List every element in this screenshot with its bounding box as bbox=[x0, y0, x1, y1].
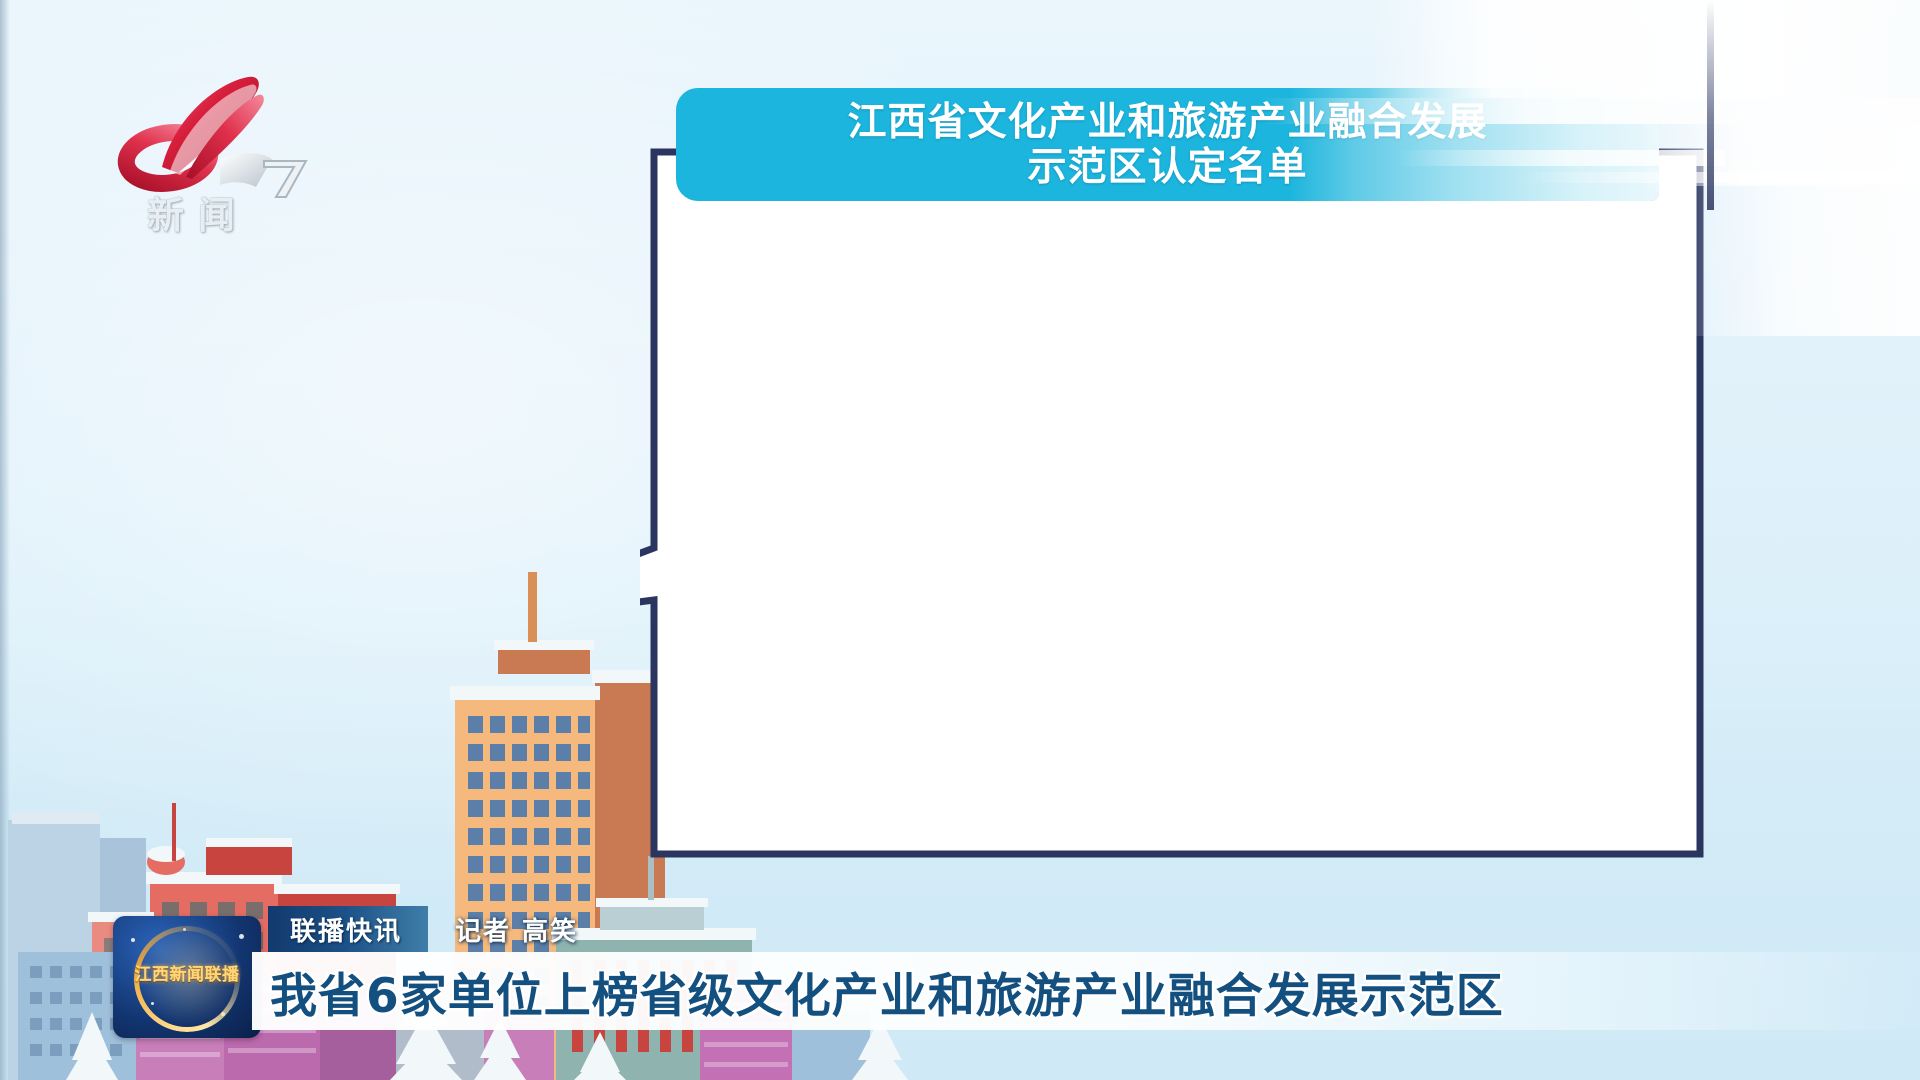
graphic-title-bar: 江西省文化产业和旅游产业融合发展 示范区认定名单 bbox=[676, 88, 1659, 201]
badge-star bbox=[131, 938, 135, 942]
light-streak bbox=[1680, 186, 1920, 336]
headline-band: 我省6家单位上榜省级文化产业和旅游产业融合发展示范区 bbox=[252, 952, 1920, 1030]
flash-news-tag-label: 联播快讯 bbox=[290, 911, 402, 948]
reporter-credit: 记者 高笑 bbox=[455, 906, 578, 952]
reporter-credit-label: 记者 高笑 bbox=[455, 911, 578, 948]
light-streak bbox=[1370, 0, 1920, 98]
flash-news-tag: 联播快讯 bbox=[268, 906, 428, 952]
broadcast-frame: 江西省文化产业和旅游产业融合发展 示范区认定名单 bbox=[0, 0, 1920, 1080]
channel-logo: 新闻 bbox=[100, 55, 320, 245]
channel-wordmark: 新闻 bbox=[118, 185, 278, 239]
badge-star bbox=[239, 934, 244, 939]
speech-bubble-panel bbox=[640, 148, 1708, 860]
graphic-title-line-1: 江西省文化产业和旅游产业融合发展 bbox=[847, 101, 1487, 143]
headline-text: 我省6家单位上榜省级文化产业和旅游产业融合发展示范区 bbox=[252, 957, 1504, 1026]
lower-third-banner: 江西新闻联播 联播快讯 记者 高笑 我省6家单位上榜省级文化产业和旅游产业融合发… bbox=[0, 894, 1920, 1062]
vertical-edge-streak bbox=[1707, 0, 1714, 210]
speech-bubble-outline bbox=[640, 148, 1708, 860]
program-badge-label: 江西新闻联播 bbox=[113, 960, 261, 985]
graphic-title-line-2: 示范区认定名单 bbox=[1027, 146, 1307, 188]
program-badge: 江西新闻联播 bbox=[113, 916, 261, 1038]
